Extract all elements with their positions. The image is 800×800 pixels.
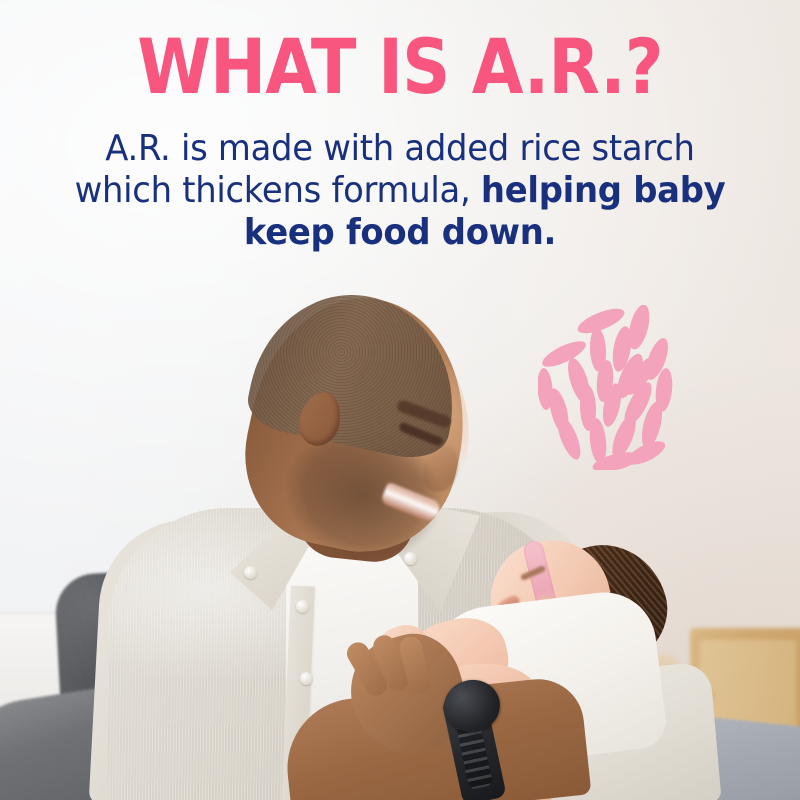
- collar-button: [244, 566, 257, 579]
- headline: WHAT IS A.R.?: [48, 26, 752, 108]
- ad-canvas: WHAT IS A.R.? A.R. is made with added ri…: [0, 0, 800, 800]
- shirt-button: [300, 672, 313, 685]
- rice-grain-cluster-icon: [538, 305, 684, 470]
- subcopy: A.R. is made with added rice starch whic…: [62, 128, 739, 254]
- shirt-button: [296, 600, 309, 613]
